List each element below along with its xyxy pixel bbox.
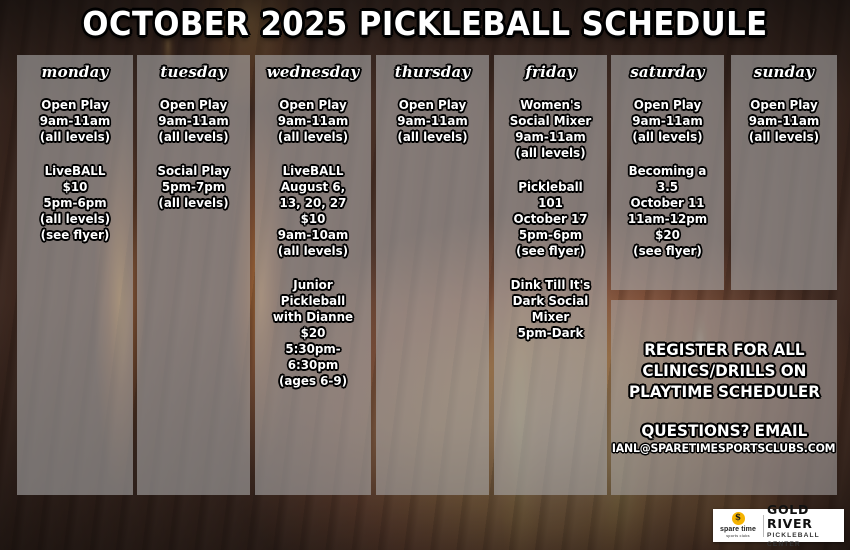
day-column-saturday: saturday Open Play 9am-11am (all levels)… [611, 55, 724, 290]
event-line: (all levels) [24, 211, 127, 227]
event-line: $10 [262, 211, 365, 227]
event-line: $20 [618, 227, 718, 243]
event-line: 101 [501, 195, 601, 211]
event-line: 13, 20, 27 [262, 195, 365, 211]
event-line: Becoming a [618, 163, 718, 179]
event-line: (all levels) [144, 129, 244, 145]
event-line: Open Play [383, 97, 483, 113]
day-column-tuesday: tuesday Open Play 9am-11am (all levels) … [137, 55, 250, 495]
event-block: Dink Till It's Dark Social Mixer 5pm-Dar… [498, 277, 603, 341]
event-line: 9am-11am [737, 113, 830, 129]
event-line: (all levels) [501, 145, 601, 161]
event-line: LiveBALL [24, 163, 127, 179]
event-line: 5pm-Dark [501, 325, 601, 341]
day-column-monday: monday Open Play 9am-11am (all levels) L… [17, 55, 133, 495]
event-line: LiveBALL [262, 163, 365, 179]
day-column-sunday: sunday Open Play 9am-11am (all levels) [731, 55, 837, 290]
register-line-2: CLINICS/DRILLS ON [642, 360, 806, 381]
event-line: October 11 [618, 195, 718, 211]
spare-time-badge-icon: $ [732, 512, 745, 525]
event-line: 5pm-6pm [501, 227, 601, 243]
event-line: Open Play [262, 97, 365, 113]
event-line: Social Mixer [501, 113, 601, 129]
event-block: Open Play 9am-11am (all levels) [380, 97, 485, 145]
spare-time-sports-clubs-logo: $ spare time sports clubs [713, 510, 763, 541]
day-column-thursday: thursday Open Play 9am-11am (all levels) [376, 55, 489, 495]
event-line: Pickleball [262, 293, 365, 309]
event-line: Open Play [144, 97, 244, 113]
event-line: 11am-12pm [618, 211, 718, 227]
event-line: Dink Till It's [501, 277, 601, 293]
event-line: 3.5 [618, 179, 718, 195]
day-header-friday: friday [498, 63, 603, 81]
event-line: 9am-10am [262, 227, 365, 243]
event-line: Dark Social [501, 293, 601, 309]
event-line: 9am-11am [144, 113, 244, 129]
event-line: (see flyer) [24, 227, 127, 243]
club-subtitle: PICKLEBALL CENTER [767, 531, 844, 549]
event-line: 9am-11am [501, 129, 601, 145]
day-header-tuesday: tuesday [141, 63, 246, 81]
club-name: GOLD RIVER [767, 503, 844, 531]
day-header-monday: monday [21, 63, 129, 81]
event-line: 5:30pm- [262, 341, 365, 357]
event-line: Open Play [737, 97, 830, 113]
event-block: Becoming a 3.5 October 11 11am-12pm $20 … [615, 163, 720, 259]
gold-river-pickleball-center-logo: $ spare time sports clubs GOLD RIVER PIC… [713, 509, 844, 542]
event-line: (all levels) [24, 129, 127, 145]
day-header-saturday: saturday [615, 63, 720, 81]
event-block: Junior Pickleball with Dianne $20 5:30pm… [259, 277, 367, 389]
event-block: Open Play 9am-11am (all levels) [615, 97, 720, 145]
register-questions-label: QUESTIONS? EMAIL [641, 420, 807, 441]
event-block: Open Play 9am-11am (all levels) [21, 97, 129, 145]
event-line: Women's [501, 97, 601, 113]
pickleball-schedule-poster: OCTOBER 2025 PICKLEBALL SCHEDULE monday … [0, 0, 850, 550]
event-line: (all levels) [144, 195, 244, 211]
event-line: (see flyer) [618, 243, 718, 259]
event-line: 5pm-6pm [24, 195, 127, 211]
day-column-wednesday: wednesday Open Play 9am-11am (all levels… [255, 55, 371, 495]
event-block: LiveBALL $10 5pm-6pm (all levels) (see f… [21, 163, 129, 243]
event-line: with Dianne [262, 309, 365, 325]
event-line: Junior [262, 277, 365, 293]
day-header-wednesday: wednesday [259, 63, 367, 81]
day-header-thursday: thursday [380, 63, 485, 81]
event-line: (ages 6-9) [262, 373, 365, 389]
register-line-3: PLAYTIME SCHEDULER [629, 381, 820, 402]
register-line-1: REGISTER FOR ALL [644, 339, 804, 360]
event-block: Pickleball 101 October 17 5pm-6pm (see f… [498, 179, 603, 259]
event-line: 9am-11am [24, 113, 127, 129]
event-line: (see flyer) [501, 243, 601, 259]
event-block: Open Play 9am-11am (all levels) [141, 97, 246, 145]
event-block: Open Play 9am-11am (all levels) [735, 97, 833, 145]
spare-time-wordmark: spare time [720, 526, 756, 534]
event-line: 6:30pm [262, 357, 365, 373]
event-block: Women's Social Mixer 9am-11am (all level… [498, 97, 603, 161]
event-line: (all levels) [262, 243, 365, 259]
event-line: (all levels) [737, 129, 830, 145]
event-line: October 17 [501, 211, 601, 227]
event-line: $10 [24, 179, 127, 195]
event-line: Pickleball [501, 179, 601, 195]
logo-text-block: GOLD RIVER PICKLEBALL CENTER [764, 503, 844, 549]
event-line: Open Play [618, 97, 718, 113]
contact-email[interactable]: IANL@SPARETIMESPORTSCLUBS.COM [612, 441, 835, 456]
event-line: August 6, [262, 179, 365, 195]
event-line: Social Play [144, 163, 244, 179]
spare-time-mark-glyph: $ [735, 514, 741, 523]
day-header-sunday: sunday [735, 63, 833, 81]
event-line: Open Play [24, 97, 127, 113]
event-block: Open Play 9am-11am (all levels) [259, 97, 367, 145]
event-line: 9am-11am [618, 113, 718, 129]
event-line: $20 [262, 325, 365, 341]
event-line: (all levels) [262, 129, 365, 145]
event-line: Mixer [501, 309, 601, 325]
event-block: LiveBALL August 6, 13, 20, 27 $10 9am-10… [259, 163, 367, 259]
sports-clubs-subtext: sports clubs [726, 534, 750, 539]
event-line: (all levels) [383, 129, 483, 145]
register-info-panel: REGISTER FOR ALL CLINICS/DRILLS ON PLAYT… [611, 300, 837, 495]
event-line: 5pm-7pm [144, 179, 244, 195]
event-line: 9am-11am [383, 113, 483, 129]
day-column-friday: friday Women's Social Mixer 9am-11am (al… [494, 55, 607, 495]
event-block: Social Play 5pm-7pm (all levels) [141, 163, 246, 211]
page-title: OCTOBER 2025 PICKLEBALL SCHEDULE [30, 4, 821, 43]
event-line: 9am-11am [262, 113, 365, 129]
event-line: (all levels) [618, 129, 718, 145]
